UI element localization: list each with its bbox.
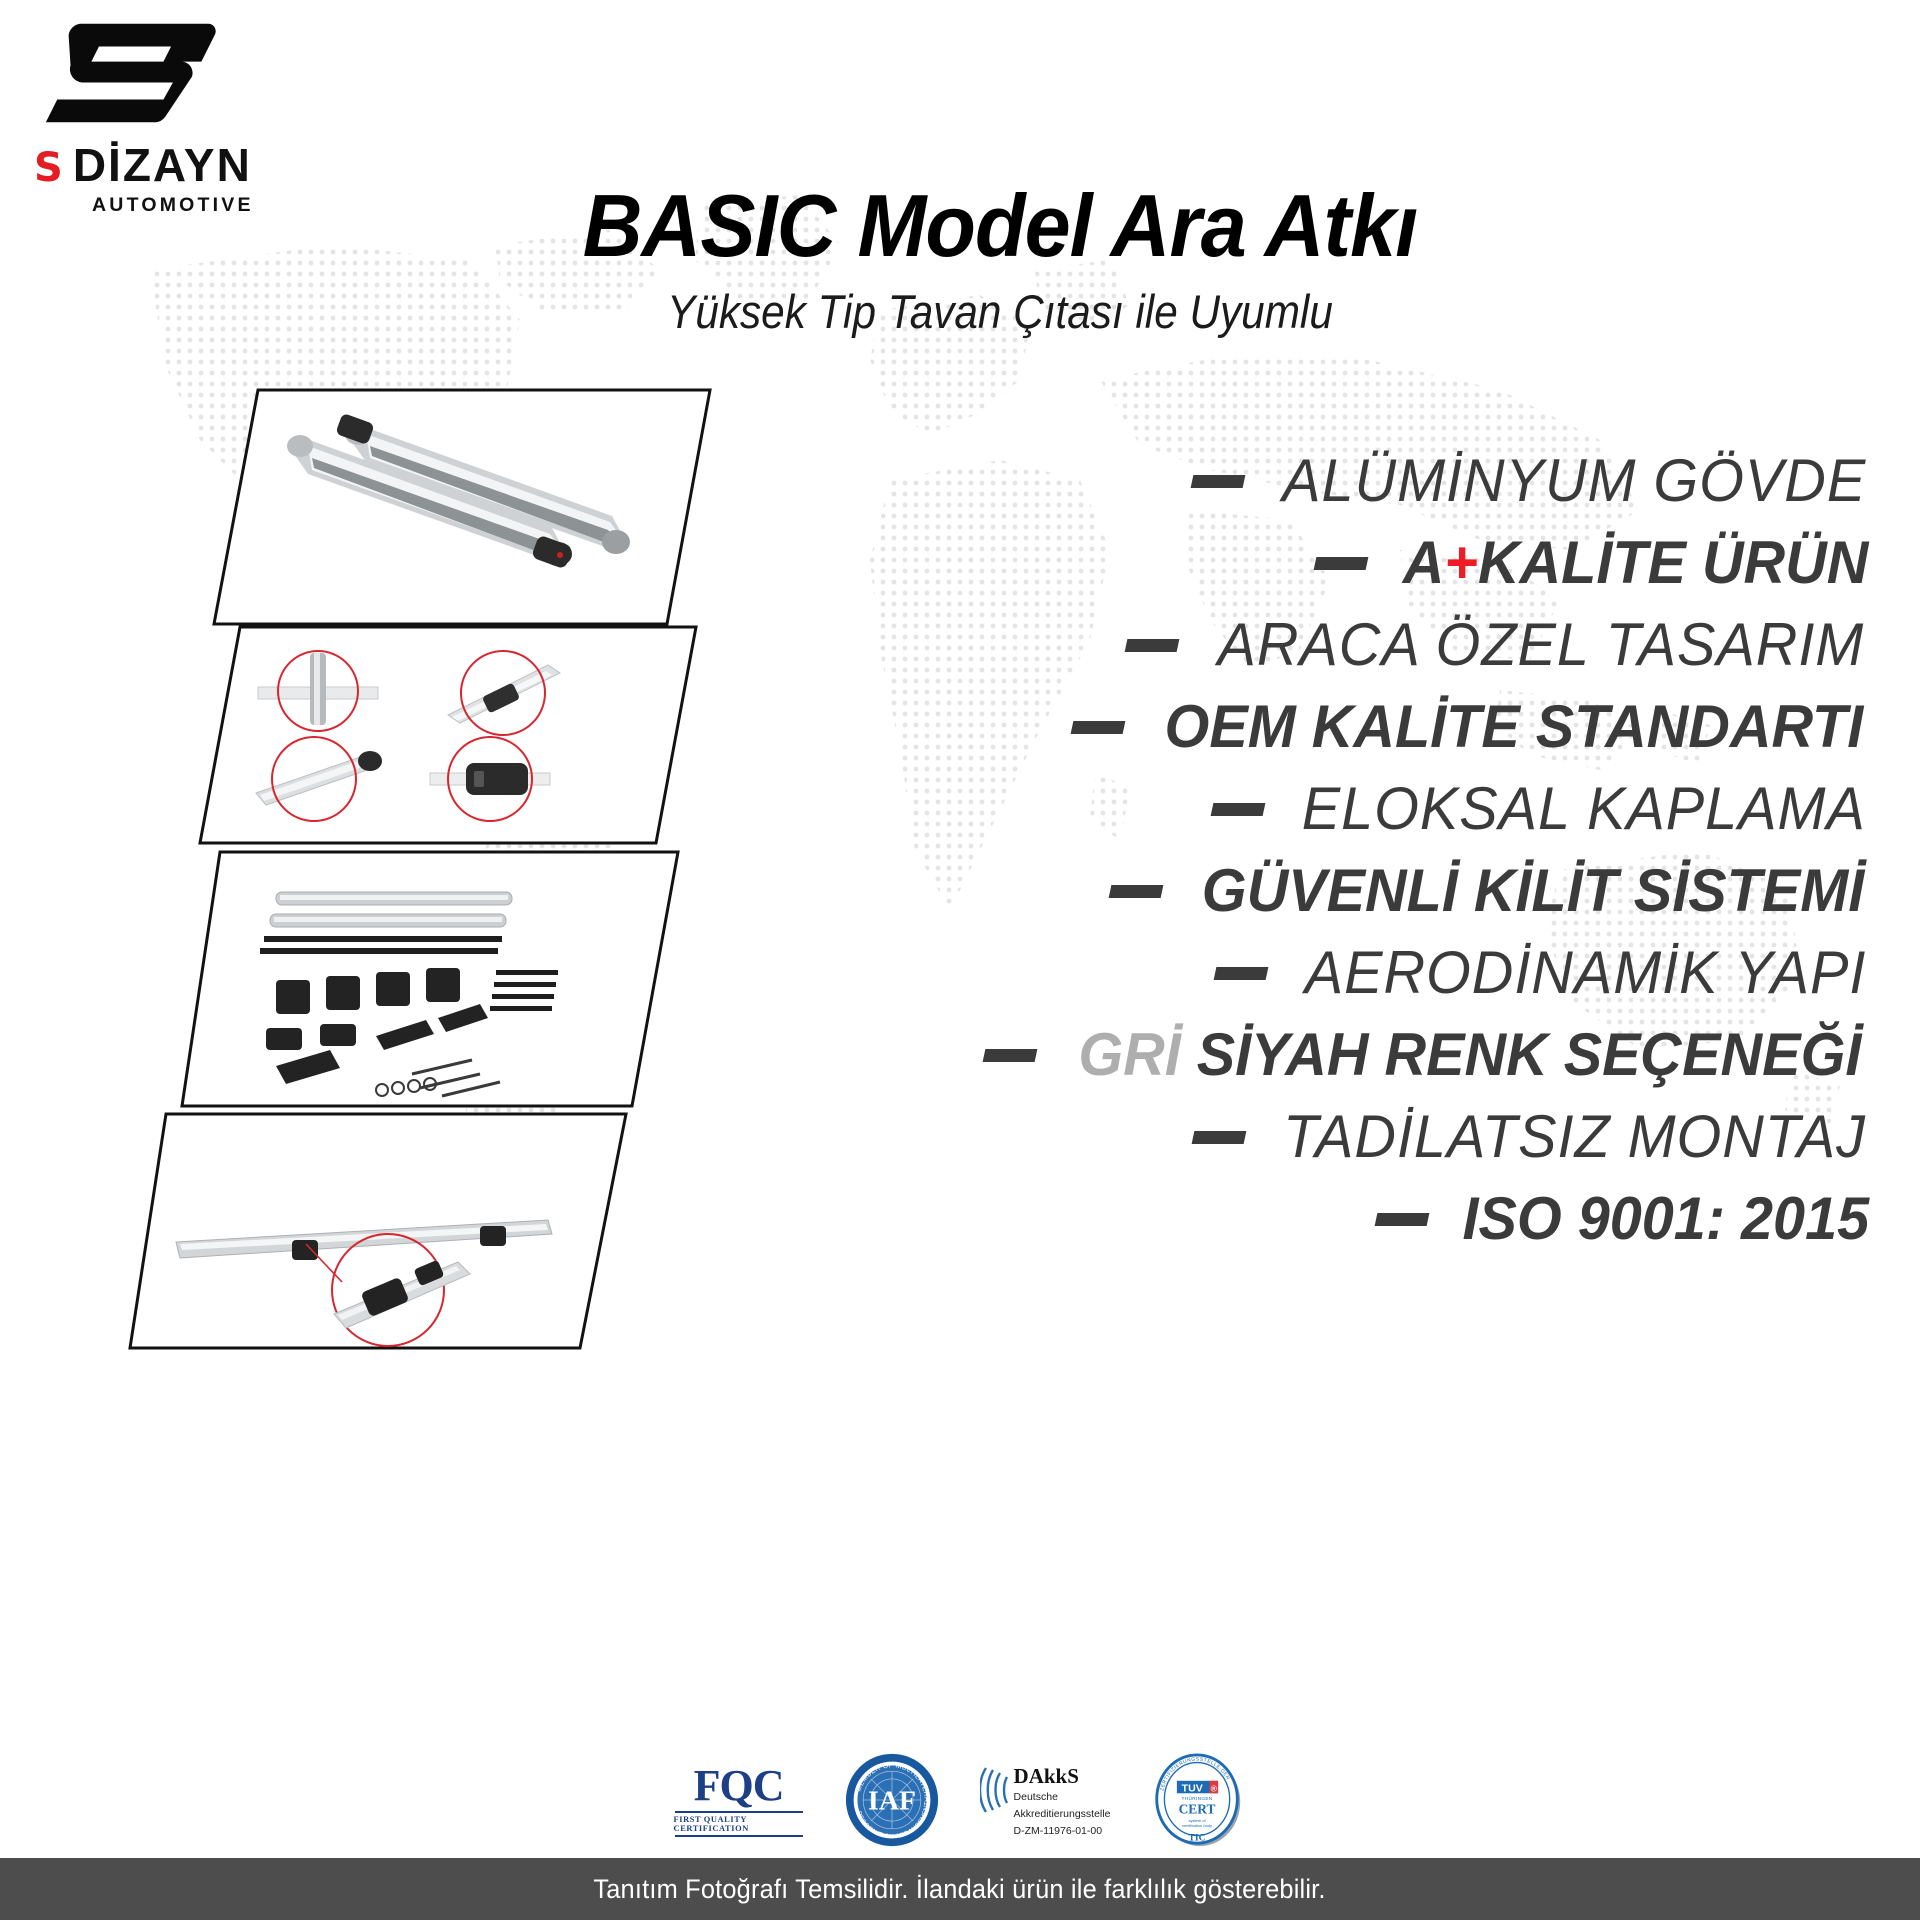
dakks-label: DAkkS xyxy=(1014,1766,1111,1787)
feature-list: ALÜMİNYUM GÖVDE A+KALİTE ÜRÜN ARACA ÖZEL… xyxy=(560,440,1900,1260)
feature-item-anodized-coating: ELOKSAL KAPLAMA xyxy=(560,768,1900,850)
bullet-dash-icon xyxy=(1211,803,1266,816)
feature-label: AERODİNAMİK YAPI xyxy=(1305,943,1867,1003)
bullet-dash-icon xyxy=(1375,1213,1430,1226)
logo-letter-s: S xyxy=(34,145,62,191)
page-subtitle: Yüksek Tip Tavan Çıtası ile Uyumlu xyxy=(325,284,1675,339)
feature-item-color-options: GRİ SİYAH RENK SEÇENEĞİ xyxy=(560,1014,1900,1096)
footer-disclaimer-bar: Tanıtım Fotoğrafı Temsilidir. İlandaki ü… xyxy=(0,1858,1920,1920)
svg-text:CERT: CERT xyxy=(1179,1801,1216,1816)
feature-label-post: KALİTE ÜRÜN xyxy=(1478,529,1868,596)
dakks-line-1: Deutsche xyxy=(1014,1791,1111,1804)
bullet-dash-icon xyxy=(1071,721,1126,734)
svg-text:certification body: certification body xyxy=(1182,1823,1212,1828)
feature-label: OEM KALİTE STANDARTI xyxy=(1165,697,1864,757)
tuv-cert-seal-icon: TUV ® THÜRINGEN CERT system of certifica… xyxy=(1150,1752,1246,1848)
dakks-line-2: Akkreditierungsstelle xyxy=(1014,1808,1111,1821)
feature-label: ELOKSAL KAPLAMA xyxy=(1302,779,1866,839)
feature-label: ARACA ÖZEL TASARIM xyxy=(1218,615,1865,675)
product-infographic-page: S DİZAYN AUTOMOTIVE BASIC Model Ara Atkı… xyxy=(0,0,1920,1920)
svg-text:TUV: TUV xyxy=(1182,1782,1203,1794)
feature-item-secure-lock-system: GÜVENLİ KİLİT SİSTEMİ xyxy=(560,850,1900,932)
feature-item-no-modification-install: TADİLATSIZ MONTAJ xyxy=(560,1096,1900,1178)
feature-item-oem-quality-standard: OEM KALİTE STANDARTI xyxy=(560,686,1900,768)
bullet-dash-icon xyxy=(1192,1131,1247,1144)
s-monogram-logo-icon xyxy=(40,18,230,128)
feature-item-a-plus-quality: A+KALİTE ÜRÜN xyxy=(560,522,1900,604)
divider xyxy=(675,1835,803,1837)
feature-label: ALÜMİNYUM GÖVDE xyxy=(1282,451,1866,511)
fqc-certification-badge: FQC FIRST QUALITY CERTIFICATION xyxy=(674,1764,804,1837)
fqc-sublabel: FIRST QUALITY CERTIFICATION xyxy=(674,1815,804,1833)
headline-block: BASIC Model Ara Atkı Yüksek Tip Tavan Çı… xyxy=(250,182,1750,339)
svg-text:®: ® xyxy=(1211,1783,1218,1793)
fqc-label: FQC xyxy=(694,1764,784,1808)
feature-label: GÜVENLİ KİLİT SİSTEMİ xyxy=(1202,861,1864,921)
logo-wordmark: DİZAYN xyxy=(73,138,252,192)
dakks-line-3: D-ZM-11976-01-00 xyxy=(1014,1825,1111,1838)
feature-label-post: SİYAH RENK SEÇENEĞİ xyxy=(1197,1021,1862,1088)
svg-text:IAF: IAF xyxy=(868,1786,916,1817)
feature-item-vehicle-specific-design: ARACA ÖZEL TASARIM xyxy=(560,604,1900,686)
bullet-dash-icon xyxy=(1125,639,1180,652)
feature-label-accent: + xyxy=(1444,529,1478,596)
certification-badges: FQC FIRST QUALITY CERTIFICATION IAF MEMB… xyxy=(0,1752,1920,1848)
footer-disclaimer-text: Tanıtım Fotoğrafı Temsilidir. İlandaki ü… xyxy=(594,1874,1326,1905)
feature-label-pre: A xyxy=(1403,529,1445,596)
feature-label: TADİLATSIZ MONTAJ xyxy=(1283,1107,1866,1167)
feature-item-iso-9001: ISO 9001: 2015 xyxy=(560,1178,1900,1260)
feature-label-pre: GRİ xyxy=(1079,1021,1181,1088)
bullet-dash-icon xyxy=(983,1049,1038,1062)
feature-item-aluminium-body: ALÜMİNYUM GÖVDE xyxy=(560,440,1900,522)
svg-text:TIC: TIC xyxy=(1189,1832,1206,1843)
iaf-certification-badge: IAF MEMBER OF MULTILATERAL RECOGNITION A… xyxy=(844,1752,940,1848)
bullet-dash-icon xyxy=(1314,557,1369,570)
installed-rail-photo xyxy=(128,1112,628,1350)
feature-item-aerodynamic-structure: AERODİNAMİK YAPI xyxy=(560,932,1900,1014)
dakks-certification-badge: DAkkS Deutsche Akkreditierungsstelle D-Z… xyxy=(980,1762,1111,1838)
feature-label: A+KALİTE ÜRÜN xyxy=(1403,533,1869,593)
feature-label: ISO 9001: 2015 xyxy=(1463,1189,1870,1249)
page-title: BASIC Model Ara Atkı xyxy=(295,182,1705,270)
feature-label: GRİ SİYAH RENK SEÇENEĞİ xyxy=(1079,1025,1862,1085)
tuv-certification-badge: TUV ® THÜRINGEN CERT system of certifica… xyxy=(1150,1752,1246,1848)
bullet-dash-icon xyxy=(1214,967,1269,980)
iaf-seal-icon: IAF MEMBER OF MULTILATERAL RECOGNITION A… xyxy=(844,1752,940,1848)
bullet-dash-icon xyxy=(1109,885,1164,898)
dakks-waves-icon xyxy=(980,1762,1010,1818)
bullet-dash-icon xyxy=(1190,475,1245,488)
divider xyxy=(675,1811,803,1813)
